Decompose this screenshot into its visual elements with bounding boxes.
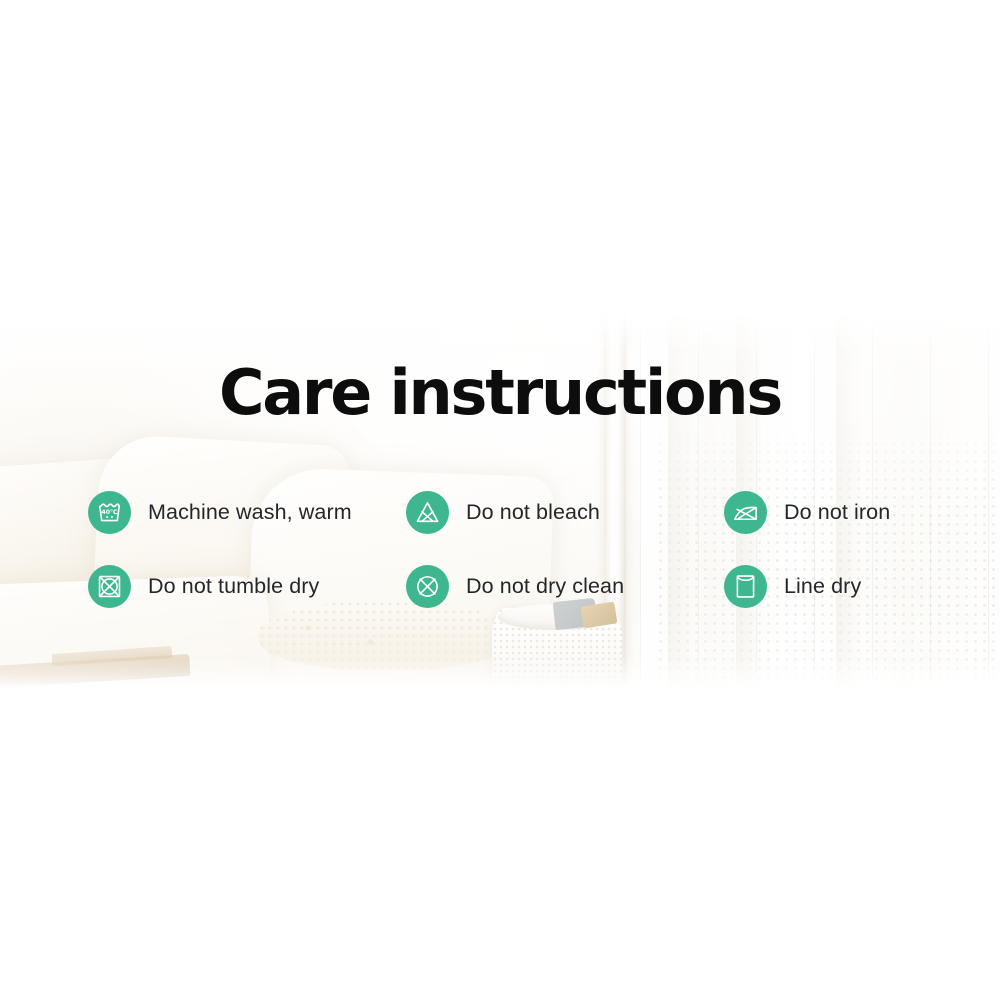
line-dry-icon [724,565,767,608]
care-instructions-banner: Care instructions 40℃ Machine wash, warm [0,0,1000,1000]
care-item-label: Do not bleach [466,500,600,525]
do-not-bleach-icon [406,491,449,534]
care-item-line-dry: Line dry [724,565,948,608]
care-item-label: Do not iron [784,500,890,525]
svg-text:40℃: 40℃ [101,508,118,515]
care-item-do-not-dry-clean: Do not dry clean [406,565,724,608]
page-title: Care instructions [0,362,1000,424]
care-item-label: Do not tumble dry [148,574,319,599]
care-item-do-not-iron: Do not iron [724,491,948,534]
do-not-dry-clean-icon [406,565,449,608]
banner-content: Care instructions 40℃ Machine wash, warm [0,312,1000,688]
care-item-do-not-bleach: Do not bleach [406,491,724,534]
machine-wash-warm-icon: 40℃ [88,491,131,534]
care-items-grid: 40℃ Machine wash, warm Do not bleach [88,475,948,623]
care-item-do-not-tumble-dry: Do not tumble dry [88,565,406,608]
care-item-label: Line dry [784,574,861,599]
do-not-tumble-dry-icon [88,565,131,608]
do-not-iron-icon [724,491,767,534]
care-item-label: Machine wash, warm [148,500,352,525]
care-item-label: Do not dry clean [466,574,624,599]
care-item-machine-wash-warm: 40℃ Machine wash, warm [88,491,406,534]
